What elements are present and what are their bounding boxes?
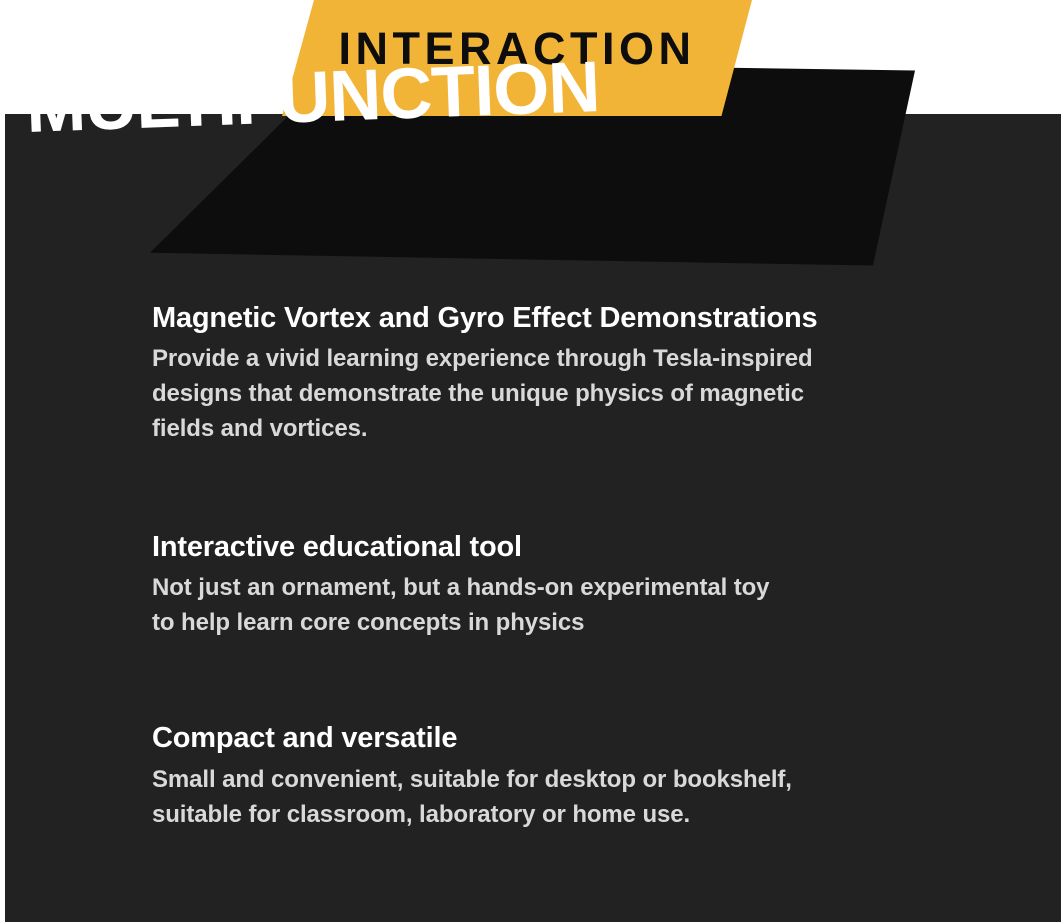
feature-description-line: Not just an ornament, but a hands-on exp… [152,571,1032,606]
section-spacer [152,447,1032,469]
feature-heading: Magnetic Vortex and Gyro Effect Demonstr… [152,300,1032,336]
feature-description-line: to help learn core concepts in physics [152,606,1032,641]
feature-description: Small and convenient, suitable for deskt… [152,763,1032,833]
feature-description: Provide a vivid learning experience thro… [152,342,1032,446]
feature-description: Not just an ornament, but a hands-on exp… [152,571,1032,641]
feature-description-line: suitable for classroom, laboratory or ho… [152,798,1032,833]
feature-heading: Interactive educational tool [152,529,1032,565]
feature-panel-page: MULTIFUNCTION INTERACTION Magnetic Vorte… [0,0,1061,922]
feature-heading: Compact and versatile [152,720,1032,756]
feature-description-line: Small and convenient, suitable for deskt… [152,763,1032,798]
section-spacer [152,640,1032,660]
feature-list: Magnetic Vortex and Gyro Effect Demonstr… [152,300,1032,832]
feature-block: Interactive educational tool Not just an… [152,529,1032,661]
feature-block: Compact and versatile Small and convenie… [152,720,1032,832]
feature-description-line: Provide a vivid learning experience thro… [152,342,1032,377]
feature-description-line: fields and vortices. [152,412,1032,447]
feature-description-line: designs that demonstrate the unique phys… [152,377,1032,412]
feature-block: Magnetic Vortex and Gyro Effect Demonstr… [152,300,1032,469]
